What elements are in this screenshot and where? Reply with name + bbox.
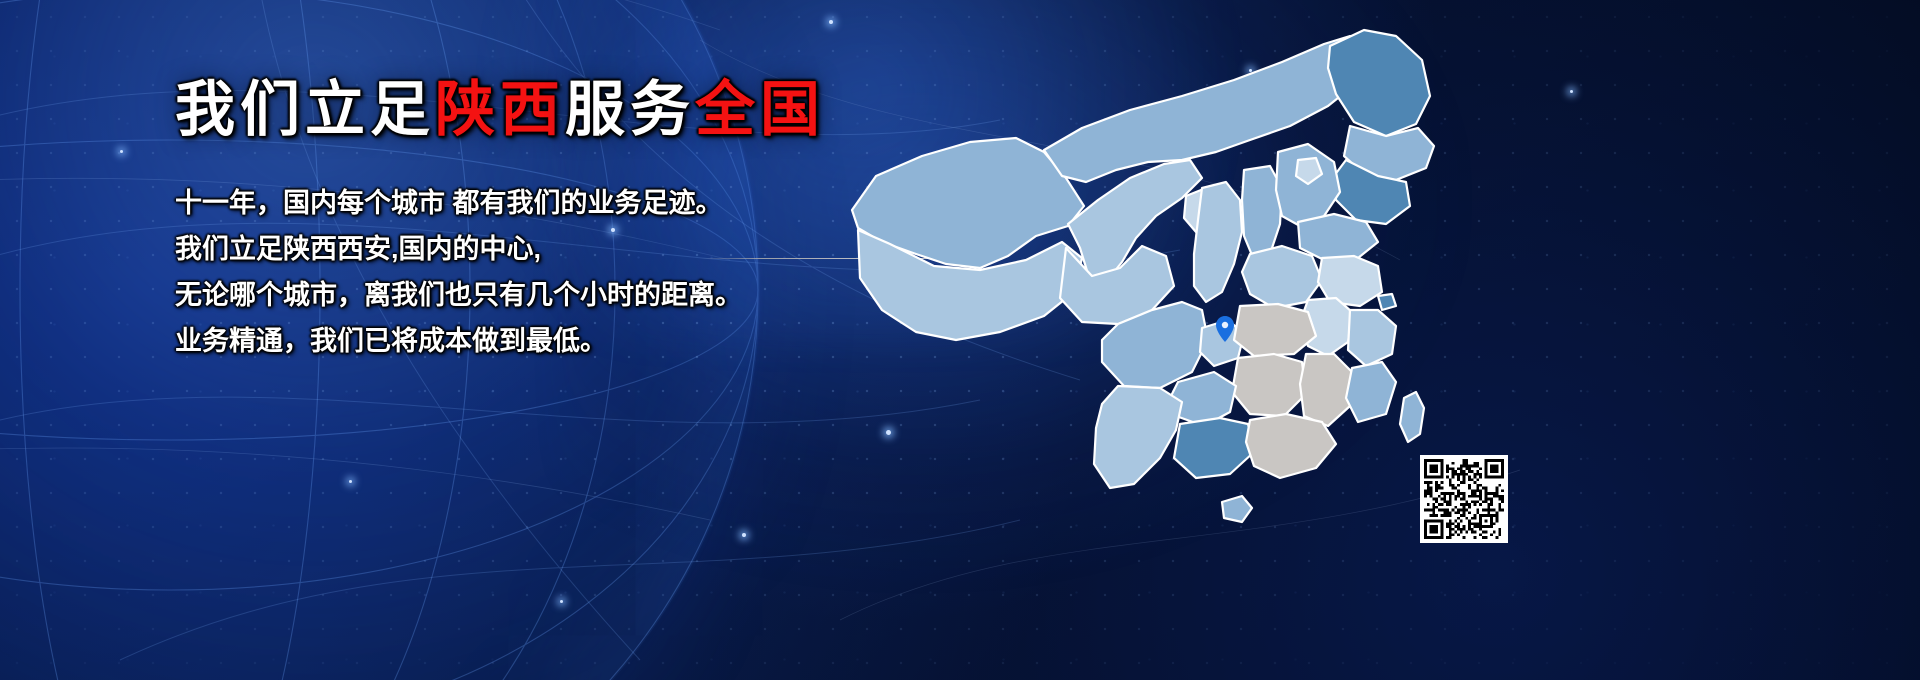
province-hunan — [1232, 354, 1306, 416]
banner-subtext: 十一年，国内每个城市 都有我们的业务足迹。 我们立足陕西西安,国内的中心, 无论… — [175, 180, 935, 364]
province-shandong — [1298, 214, 1378, 260]
hero-banner: 我们立足陕西服务全国 十一年，国内每个城市 都有我们的业务足迹。 我们立足陕西西… — [0, 0, 1920, 680]
qr-code[interactable] — [1420, 455, 1508, 543]
headline-highlight-1: 陕西 — [435, 76, 565, 143]
headline-part-1: 我们立足 — [175, 76, 435, 143]
province-zhejiang — [1348, 310, 1396, 366]
province-hainan — [1222, 496, 1252, 522]
page-title: 我们立足陕西服务全国 — [175, 78, 935, 142]
headline-highlight-2: 全国 — [695, 76, 825, 143]
headline-part-2: 服务 — [565, 76, 695, 143]
province-guangdong — [1246, 414, 1336, 478]
province-yunnan — [1094, 386, 1182, 488]
banner-copy: 我们立足陕西服务全国 十一年，国内每个城市 都有我们的业务足迹。 我们立足陕西西… — [175, 78, 935, 364]
province-jiangxi — [1300, 354, 1352, 426]
province-guangxi — [1174, 418, 1254, 478]
municipality-shanghai — [1378, 294, 1396, 310]
body-line-4: 业务精通，我们已将成本做到最低。 — [175, 318, 935, 364]
qr-code-image — [1424, 459, 1504, 539]
province-guizhou — [1170, 372, 1236, 426]
china-map — [830, 10, 1510, 570]
province-fujian — [1346, 362, 1396, 422]
province-shaanxi — [1194, 182, 1242, 302]
body-line-1: 十一年，国内每个城市 都有我们的业务足迹。 — [175, 180, 935, 226]
body-line-3: 无论哪个城市，离我们也只有几个小时的距离。 — [175, 272, 935, 318]
location-pin-icon — [1216, 316, 1234, 342]
province-henan — [1242, 246, 1322, 308]
province-heilongjiang — [1328, 30, 1430, 136]
body-line-2: 我们立足陕西西安,国内的中心, — [175, 226, 935, 272]
province-hubei — [1234, 304, 1316, 356]
province-taiwan — [1400, 392, 1424, 442]
